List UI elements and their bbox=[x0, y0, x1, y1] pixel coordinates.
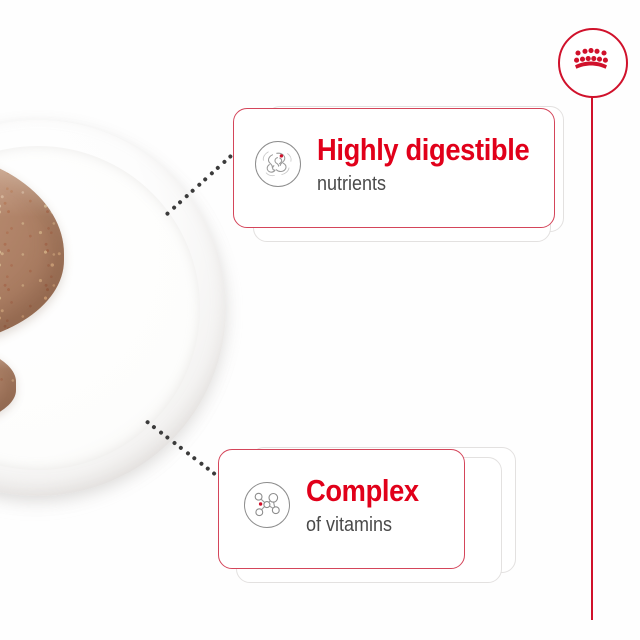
card-text-block: Complex of vitamins bbox=[306, 475, 434, 535]
card-title: Complex bbox=[306, 475, 419, 506]
food-slice-top bbox=[0, 150, 64, 346]
brand-vertical-line bbox=[591, 92, 593, 620]
card-text-block: Highly digestible nutrients bbox=[317, 134, 558, 194]
feature-card-highly-digestible[interactable]: Highly digestible nutrients bbox=[233, 108, 563, 236]
food-texture bbox=[0, 150, 64, 346]
stomach-icon bbox=[255, 141, 301, 187]
card-subtitle: nutrients bbox=[317, 174, 534, 194]
feature-card-complex-of-vitamins[interactable]: Complex of vitamins bbox=[218, 449, 508, 577]
card-title: Highly digestible bbox=[317, 134, 529, 165]
card-subtitle: of vitamins bbox=[306, 515, 421, 535]
molecule-icon bbox=[244, 482, 290, 528]
food-texture bbox=[0, 338, 16, 430]
promo-canvas: Highly digestible nutrients bbox=[0, 0, 640, 640]
product-photo bbox=[0, 120, 250, 520]
royal-canin-crown-icon[interactable] bbox=[558, 28, 628, 98]
food-slice-middle bbox=[0, 338, 16, 430]
